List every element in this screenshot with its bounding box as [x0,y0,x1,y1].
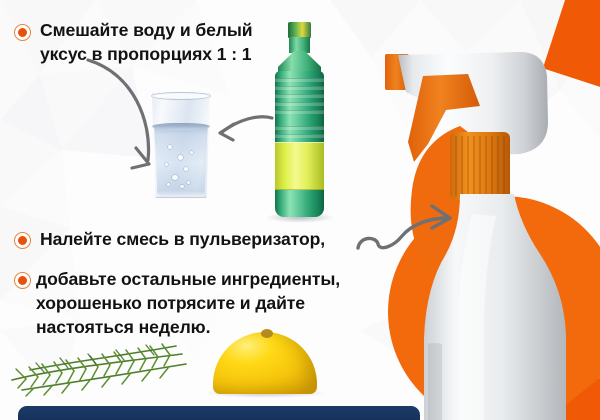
bubble [190,151,193,154]
step-2-text: Налейте смесь в пульверизатор, [40,227,340,251]
bottle-rib [275,110,324,114]
bottle-rib [275,78,324,82]
step-3-text: добавьте остальные ингредиенты, хорошень… [36,267,356,339]
bubble [187,181,190,184]
bullet-step-3 [14,272,31,289]
bubble [178,155,183,160]
bottle-neck [289,37,310,53]
glass-base [157,190,205,197]
bottle-rib [275,126,324,130]
rosemary-icon [4,336,194,398]
bubble [167,183,170,186]
bubble [180,185,184,188]
arrow-to-glass-icon [56,52,176,180]
infographic-canvas: Смешайте воду и белый уксус в пропорциях… [0,0,600,420]
step-1-text: Смешайте воду и белый уксус в пропорциях… [40,18,290,66]
bottle-rib [275,86,324,90]
bottle-rib [275,134,324,138]
bottle-rib [275,102,324,106]
bullet-step-1 [14,24,31,41]
bottle-cap [288,22,311,38]
arrow-bottle-to-glass-icon [214,112,276,146]
bottle-rib [275,94,324,98]
bubble [184,167,188,171]
bottle-label [275,142,324,190]
bullet-step-2 [14,232,31,249]
navy-bottom-bar [18,406,420,420]
arrow-to-spray-icon [352,196,464,256]
